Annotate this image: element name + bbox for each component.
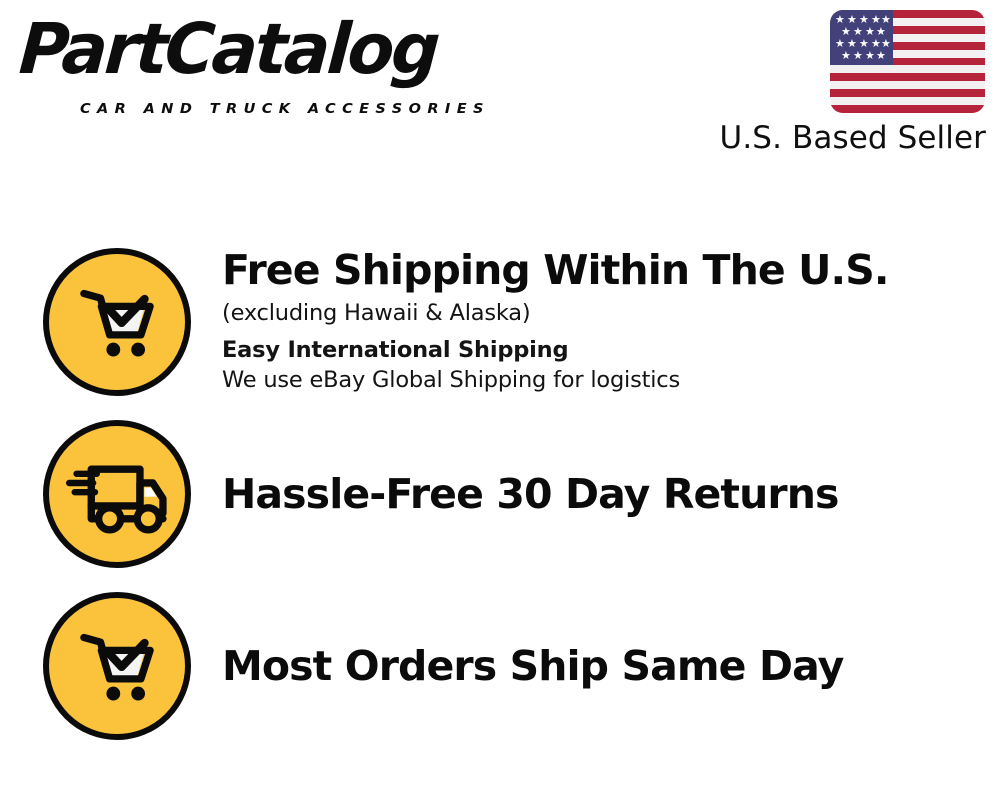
benefit-headline: Most Orders Ship Same Day <box>222 644 982 688</box>
benefit-row: Most Orders Ship Same Day <box>0 592 1000 740</box>
brand-wordmark: PartCatalog <box>17 14 439 84</box>
flag-canton: ★ ★ ★ ★ ★ ★ ★ ★ ★ ★ ★ ★ ★ ★ ★ ★ ★ ★ <box>830 10 893 65</box>
benefit-subnote: We use eBay Global Shipping for logistic… <box>222 366 982 396</box>
benefit-text-block: Most Orders Ship Same Day <box>222 644 982 688</box>
seller-label: U.S. Based Seller <box>720 120 986 156</box>
benefit-text-block: Free Shipping Within The U.S. (excluding… <box>222 248 982 396</box>
benefit-note: (excluding Hawaii & Alaska) <box>222 299 982 329</box>
delivery-truck-icon <box>43 420 191 568</box>
benefit-subheading: Easy International Shipping <box>222 336 982 366</box>
benefit-row: Hassle-Free 30 Day Returns <box>0 420 1000 568</box>
benefit-text-block: Hassle-Free 30 Day Returns <box>222 472 982 516</box>
benefit-row: Free Shipping Within The U.S. (excluding… <box>0 248 1000 396</box>
shopping-cart-check-icon <box>43 248 191 396</box>
brand-logo: PartCatalog CAR AND TRUCK ACCESSORIES <box>22 18 492 113</box>
benefit-headline: Free Shipping Within The U.S. <box>222 248 982 292</box>
brand-tagline: CAR AND TRUCK ACCESSORIES <box>80 102 490 117</box>
us-flag-icon: ★ ★ ★ ★ ★ ★ ★ ★ ★ ★ ★ ★ ★ ★ ★ ★ ★ ★ <box>830 10 985 113</box>
shopping-cart-check-icon <box>43 592 191 740</box>
us-flag-badge: ★ ★ ★ ★ ★ ★ ★ ★ ★ ★ ★ ★ ★ ★ ★ ★ ★ ★ <box>830 10 985 113</box>
page-header: PartCatalog CAR AND TRUCK ACCESSORIES ★ … <box>0 0 1000 175</box>
benefit-headline: Hassle-Free 30 Day Returns <box>222 472 982 516</box>
